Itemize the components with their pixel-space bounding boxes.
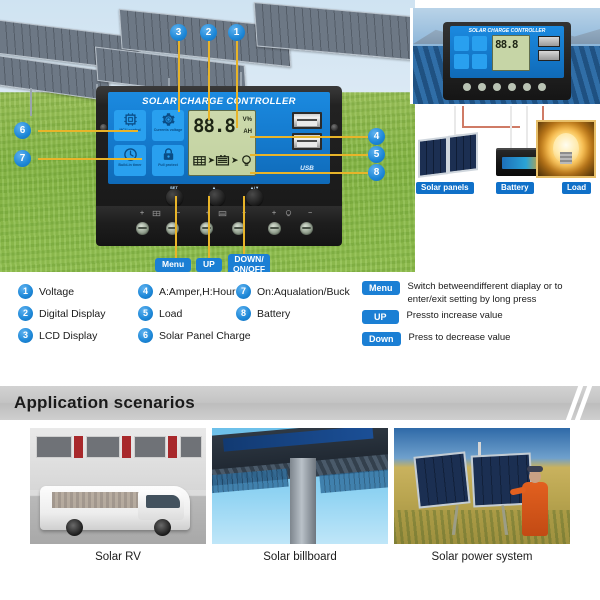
terminal-battery-icon: [218, 209, 227, 218]
wiring-diagram: Solar panels Battery Load: [410, 104, 600, 196]
scenario-caption-billboard: Solar billboard: [212, 551, 388, 563]
lcd-unit-ah: AH: [243, 129, 252, 135]
up-button[interactable]: [208, 189, 225, 206]
instruction-text-menu: Switch betweendifferent diaplay or to en…: [408, 281, 597, 306]
legend-text-amper-hour: A:Amper,H:Hour: [159, 286, 235, 298]
usb-port-top[interactable]: [292, 112, 322, 129]
application-banner-title: Application scenarios: [14, 393, 195, 413]
callout-8: 8: [368, 164, 385, 181]
instruction-key-up: UP: [362, 310, 399, 324]
terminal-screw-6[interactable]: [300, 222, 313, 235]
product-infographic: SOLAR CHARGE CONTROLLER 88.8: [0, 0, 600, 600]
billboard-scene: [212, 428, 388, 544]
rv-building: [30, 428, 206, 490]
instruction-key-down: Down: [362, 332, 401, 346]
scenario-photo-rv: [30, 428, 206, 544]
legend-text-digital-display: Digital Display: [39, 308, 106, 320]
scenario-caption-rv: Solar RV: [30, 551, 206, 563]
inset-lcd-digits: 88.8: [495, 38, 518, 51]
legend-item-5: 5 Load: [138, 306, 182, 321]
gear-icon: [161, 112, 176, 127]
bulb-base: [560, 152, 572, 164]
usb-label: USB: [290, 165, 324, 172]
controller-front-panel: SOLAR CHARGE CONTROLLER: [108, 92, 330, 184]
wire-panel-white: [454, 106, 456, 136]
billboard-pole: [290, 458, 316, 544]
legend-num-2: 2: [18, 306, 33, 321]
terminal-mark-solar-plus: +: [140, 210, 144, 217]
terminal-load-icon: [284, 209, 293, 218]
application-banner: Application scenarios: [0, 386, 600, 420]
terminal-mark-load-minus: −: [308, 210, 312, 217]
callout-down-line2: ON/OFF: [233, 264, 265, 273]
mini-load-bulb: [536, 120, 596, 178]
feature-label-timer: Build-in timer: [118, 163, 141, 167]
wiring-label-solar-panels: Solar panels: [416, 182, 474, 194]
instruction-menu: Menu Switch betweendifferent diaplay or …: [362, 281, 596, 306]
lcd-digits: 88.8: [193, 116, 235, 136]
feature-full-protect: Full protect: [152, 145, 184, 176]
scenario-cards: Solar RV Solar billboard: [0, 428, 600, 578]
solar-panel-icon: [192, 153, 207, 168]
callout-1: 1: [228, 24, 245, 41]
rv-scene: [30, 428, 206, 544]
wiring-label-battery: Battery: [496, 182, 534, 194]
legend-item-3: 3 LCD Display: [18, 328, 97, 343]
flow-arrow-2: ➤: [231, 156, 239, 165]
controller-body: SOLAR CHARGE CONTROLLER: [96, 86, 342, 208]
usb-port-block: USB: [290, 110, 324, 176]
lcd-display: 88.8 V% AH ➤: [188, 110, 256, 176]
legend-num-8: 8: [236, 306, 251, 321]
inset-controller-face: SOLAR CHARGE CONTROLLER 88.8: [450, 26, 564, 78]
scenario-caption-power-system: Solar power system: [394, 551, 570, 563]
terminal-strip: + − + − + −: [96, 206, 342, 246]
power-system-scene: [394, 428, 570, 544]
inset-product-photo: SOLAR CHARGE CONTROLLER 88.8: [410, 8, 600, 104]
feature-icon-grid: MCU control Currents voltage: [114, 110, 184, 176]
lock-icon: [161, 147, 176, 162]
scenario-card-solar-power-system: Solar power system: [394, 428, 570, 563]
instruction-key-menu: Menu: [362, 281, 400, 295]
legend-section: 1 Voltage 2 Digital Display 3 LCD Displa…: [0, 276, 600, 362]
legend-item-2: 2 Digital Display: [18, 306, 106, 321]
feature-currents-voltage: Currents voltage: [152, 110, 184, 141]
feature-label-voltage: Currents voltage: [154, 128, 183, 132]
legend-item-4: 4 A:Amper,H:Hour: [138, 284, 235, 299]
legend-text-solar-panel-charge: Solar Panel Charge: [159, 330, 251, 342]
legend-text-lcd-display: LCD Display: [39, 330, 97, 342]
callout-6: 6: [14, 122, 31, 139]
solar-charge-controller: SOLAR CHARGE CONTROLLER: [96, 86, 342, 246]
legend-num-6: 6: [138, 328, 153, 343]
inset-terminal-strip: [461, 80, 553, 94]
callout-2: 2: [200, 24, 217, 41]
legend-num-1: 1: [18, 284, 33, 299]
terminal-screw-5[interactable]: [268, 222, 281, 235]
feature-build-in-timer: Build-in timer: [114, 145, 146, 176]
callout-4: 4: [368, 128, 385, 145]
scenario-photo-power-system: [394, 428, 570, 544]
inset-device-title: SOLAR CHARGE CONTROLLER: [450, 28, 564, 34]
legend-item-8: 8 Battery: [236, 306, 290, 321]
terminal-solar-icon: [152, 209, 161, 218]
terminal-mark-load-plus: +: [272, 210, 276, 217]
mount-hole-right: [331, 124, 338, 131]
legend-text-load: Load: [159, 308, 182, 320]
mini-solar-panels: [418, 134, 480, 176]
terminal-screw-2[interactable]: [166, 222, 179, 235]
legend-num-4: 4: [138, 284, 153, 299]
legend-num-3: 3: [18, 328, 33, 343]
callout-button-up: UP: [196, 258, 222, 272]
feature-label-protect: Full protect: [158, 163, 178, 167]
callout-button-menu: Menu: [155, 258, 191, 272]
lcd-flow-diagram: ➤ ➤: [192, 149, 254, 171]
callout-3: 3: [170, 24, 187, 41]
callout-button-down-onoff: DOWN/ ON/OFF: [228, 254, 270, 272]
wiring-label-load: Load: [562, 182, 591, 194]
instruction-down: Down Press to decrease value: [362, 332, 596, 346]
battery-icon: [215, 153, 230, 168]
panel-stand: [452, 505, 508, 535]
terminal-screw-3[interactable]: [200, 222, 213, 235]
inset-feature-grid: [454, 36, 488, 70]
scenario-card-solar-billboard: Solar billboard: [212, 428, 388, 563]
callout-7: 7: [14, 150, 31, 167]
legend-text-aqualation-buck: On:Aqualation/Buck: [257, 286, 350, 298]
instruction-text-down: Press to decrease value: [409, 332, 511, 345]
scenario-photo-billboard: [212, 428, 388, 544]
flow-arrow-1: ➤: [207, 156, 215, 165]
lcd-unit-v-percent: V%: [243, 117, 252, 123]
legend-num-5: 5: [138, 306, 153, 321]
inset-controller-body: SOLAR CHARGE CONTROLLER 88.8: [443, 22, 571, 100]
hero-section: SOLAR CHARGE CONTROLLER 88.8: [0, 0, 600, 272]
legend-text-battery: Battery: [257, 308, 290, 320]
billboard-advert: [223, 428, 374, 452]
rv-wheel-front: [154, 519, 171, 536]
chip-icon: [123, 112, 138, 127]
person-figure: [522, 468, 548, 536]
callout-5: 5: [368, 146, 385, 163]
legend-num-7: 7: [236, 284, 251, 299]
instruction-up: UP Pressto increase value: [362, 310, 596, 324]
legend-item-6: 6 Solar Panel Charge: [138, 328, 251, 343]
down-onoff-button[interactable]: [246, 189, 263, 206]
banner-slash-decoration: [572, 386, 594, 420]
button-row: SET ▲ ▲/▼: [108, 186, 330, 206]
field-solar-panel-left: [413, 451, 470, 508]
application-scenarios-section: Application scenarios: [0, 386, 600, 600]
legend-item-1: 1 Voltage: [18, 284, 74, 299]
rv-wheel-rear: [66, 519, 83, 536]
device-title: SOLAR CHARGE CONTROLLER: [108, 96, 330, 107]
wire-batt-white: [510, 106, 512, 148]
legend-text-voltage: Voltage: [39, 286, 74, 298]
inset-lcd: 88.8: [492, 35, 530, 71]
legend-item-7: 7 On:Aqualation/Buck: [236, 284, 350, 299]
wire-panel-red: [462, 106, 464, 128]
inset-usb-block: [538, 36, 560, 70]
scenario-card-solar-rv: Solar RV: [30, 428, 206, 563]
feature-mcu-control: MCU control: [114, 110, 146, 141]
terminal-screw-1[interactable]: [136, 222, 149, 235]
instruction-text-up: Pressto increase value: [407, 310, 503, 323]
callout-down-line1: DOWN/: [234, 254, 263, 264]
